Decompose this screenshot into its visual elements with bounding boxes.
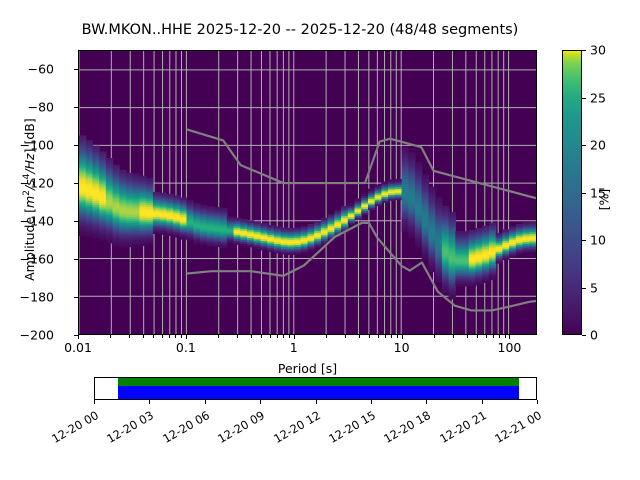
y-axis-tick-mark [74, 183, 78, 184]
x-axis-tick-label: 0.01 [64, 340, 92, 355]
x-axis-minor-tick [378, 335, 379, 338]
x-axis-minor-tick [175, 335, 176, 338]
colorbar-tick-label: 5 [590, 280, 598, 295]
x-axis-minor-tick [289, 335, 290, 338]
colorbar-tick-mark [582, 145, 586, 146]
x-axis-minor-tick [169, 335, 170, 338]
y-axis-label-unit-m: m [22, 196, 37, 208]
x-axis-minor-tick [237, 335, 238, 338]
y-axis-label-prefix: Amplitude [ [22, 208, 37, 281]
coverage-tick-mark [205, 400, 206, 404]
x-axis-minor-tick [434, 335, 435, 338]
x-axis-tick-label: 0.1 [176, 340, 196, 355]
x-axis-minor-tick [251, 335, 252, 338]
ppsd-canvas [79, 51, 536, 334]
page-title: BW.MKON..HHE 2025-12-20 -- 2025-12-20 (4… [0, 22, 600, 38]
x-axis-minor-tick [486, 335, 487, 338]
y-axis-tick-mark [74, 107, 78, 108]
y-axis-label: Amplitude [m2/s4/Hz] [dB] [22, 57, 37, 342]
x-axis-minor-tick [493, 335, 494, 338]
coverage-tick-mark [371, 400, 372, 404]
x-axis-tick-label: 10 [394, 340, 410, 355]
x-axis-minor-tick [345, 335, 346, 338]
x-axis-tick-mark [78, 335, 79, 339]
x-axis-tick-label: 100 [498, 340, 522, 355]
coverage-tick-mark [426, 400, 427, 404]
x-axis-minor-tick [110, 335, 111, 338]
coverage-tick-mark [316, 400, 317, 404]
coverage-tick-mark [149, 400, 150, 404]
x-axis-tick-mark [186, 335, 187, 339]
coverage-tick-mark [537, 400, 538, 404]
y-axis-tick-mark [74, 297, 78, 298]
y-axis-tick-mark [74, 69, 78, 70]
x-axis-minor-tick [129, 335, 130, 338]
x-axis-tick-label: 1 [290, 340, 298, 355]
y-axis-label-s-exponent: 4 [22, 174, 32, 180]
y-axis-label-m-exponent: 2 [22, 190, 32, 196]
colorbar-tick-mark [582, 240, 586, 241]
coverage-tick-mark [260, 400, 261, 404]
colorbar[interactable] [562, 50, 582, 335]
x-axis-tick-mark [294, 335, 295, 339]
y-axis-label-suffix: ] [dB] [22, 118, 37, 153]
x-axis-minor-tick [181, 335, 182, 338]
x-axis-minor-tick [218, 335, 219, 338]
x-axis-minor-tick [467, 335, 468, 338]
x-axis-minor-tick [277, 335, 278, 338]
x-axis-minor-tick [369, 335, 370, 338]
coverage-tick-mark [482, 400, 483, 404]
coverage-tick-mark [94, 400, 95, 404]
colorbar-tick-label: 10 [590, 233, 606, 248]
x-axis-tick-mark [402, 335, 403, 339]
ppsd-figure: BW.MKON..HHE 2025-12-20 -- 2025-12-20 (4… [0, 0, 640, 480]
coverage-band-blue [118, 386, 519, 399]
x-axis-minor-tick [162, 335, 163, 338]
x-axis-minor-tick [153, 335, 154, 338]
y-axis-label-unit-s: /s [22, 179, 37, 190]
colorbar-tick-mark [582, 335, 586, 336]
x-axis-minor-tick [385, 335, 386, 338]
x-axis-minor-tick [326, 335, 327, 338]
coverage-band-green [118, 378, 519, 386]
colorbar-tick-label: 25 [590, 90, 606, 105]
x-axis-minor-tick [261, 335, 262, 338]
colorbar-tick-mark [582, 50, 586, 51]
y-axis-tick-mark [74, 145, 78, 146]
y-axis-tick-mark [74, 259, 78, 260]
x-axis-minor-tick [143, 335, 144, 338]
colorbar-tick-label: 20 [590, 138, 606, 153]
colorbar-tick-label: 0 [590, 328, 598, 343]
ppsd-plot-area[interactable] [78, 50, 537, 335]
x-axis-tick-mark [509, 335, 510, 339]
x-axis-minor-tick [359, 335, 360, 338]
x-axis-minor-tick [477, 335, 478, 338]
x-axis-label: Period [s] [78, 361, 537, 376]
peterson-nhnm-curve [186, 129, 536, 198]
colorbar-tick-mark [582, 98, 586, 99]
psd-histogram-cells [79, 135, 536, 299]
colorbar-label: [%] [597, 170, 612, 230]
colorbar-tick-mark [582, 193, 586, 194]
x-axis-minor-tick [270, 335, 271, 338]
x-axis-minor-tick [499, 335, 500, 338]
x-axis-minor-tick [505, 335, 506, 338]
coverage-timeline[interactable] [94, 377, 537, 400]
x-axis-minor-tick [397, 335, 398, 338]
x-axis-minor-tick [453, 335, 454, 338]
y-axis-tick-mark [74, 221, 78, 222]
x-axis-minor-tick [391, 335, 392, 338]
colorbar-tick-label: 30 [590, 43, 606, 58]
colorbar-tick-mark [582, 288, 586, 289]
x-axis-minor-tick [283, 335, 284, 338]
y-axis-label-unit-hz: /Hz [22, 153, 37, 173]
